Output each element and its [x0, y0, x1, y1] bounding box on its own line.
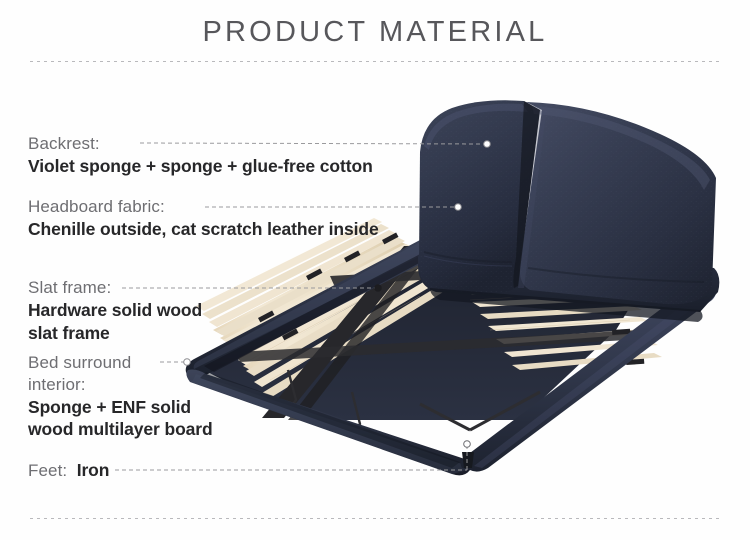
bed-surround-right-rail	[461, 281, 716, 472]
wood-grain	[250, 278, 630, 380]
callout-backrest-value: Violet sponge + sponge + glue-free cotto…	[28, 155, 373, 178]
slat-end-caps	[258, 232, 644, 364]
callout-backrest-label: Backrest:	[28, 133, 373, 155]
marker-slat-frame	[375, 285, 382, 292]
page-title: PRODUCT MATERIAL	[0, 16, 750, 49]
callout-slat-frame-value-line1: Hardware solid wood	[28, 299, 202, 322]
bed-surround-foot-rail	[186, 370, 474, 476]
callout-slat-frame-label: Slat frame:	[28, 277, 202, 299]
marker-headboard-fabric	[455, 204, 462, 211]
slat-field	[196, 218, 453, 398]
callout-bed-surround-interior: Bed surround interior: Sponge + ENF soli…	[28, 352, 213, 441]
callout-slat-frame-value-line2: slat frame	[28, 322, 202, 345]
callout-headboard-fabric: Headboard fabric: Chenille outside, cat …	[28, 196, 379, 241]
header-divider	[30, 61, 720, 62]
callout-feet-value: Iron	[77, 460, 110, 480]
callout-feet-label: Feet:	[28, 461, 67, 480]
callout-bed-surround-label-line1: Bed surround	[28, 352, 213, 374]
marker-feet	[464, 441, 471, 448]
headboard-cushion-left	[419, 100, 540, 293]
footer-divider	[30, 518, 720, 519]
slat-field-right	[440, 252, 662, 370]
callout-slat-frame: Slat frame: Hardware solid wood slat fra…	[28, 277, 202, 344]
callout-headboard-fabric-value: Chenille outside, cat scratch leather in…	[28, 218, 379, 241]
bed-surround-left-rail	[186, 238, 442, 378]
steel-cross-rails	[236, 246, 664, 420]
product-material-infographic: PRODUCT MATERIAL	[0, 0, 750, 540]
headboard-base	[418, 242, 719, 312]
callout-markers	[184, 141, 491, 448]
leader-lines	[0, 0, 750, 540]
callout-backrest: Backrest: Violet sponge + sponge + glue-…	[28, 133, 373, 178]
callout-bed-surround-value-line1: Sponge + ENF solid	[28, 396, 213, 419]
callout-bed-surround-label-line2: interior:	[28, 374, 213, 396]
callout-bed-surround-value-line2: wood multilayer board	[28, 418, 213, 441]
product-photo	[0, 0, 750, 540]
marker-backrest	[484, 141, 491, 148]
headboard-center-seam	[513, 101, 540, 288]
callout-headboard-fabric-label: Headboard fabric:	[28, 196, 379, 218]
slat-group-left	[213, 236, 434, 371]
iron-foot	[462, 452, 474, 468]
headboard-cushion-right	[520, 102, 716, 304]
center-support-legs	[286, 370, 540, 436]
callout-feet: Feet: Iron	[28, 459, 109, 482]
